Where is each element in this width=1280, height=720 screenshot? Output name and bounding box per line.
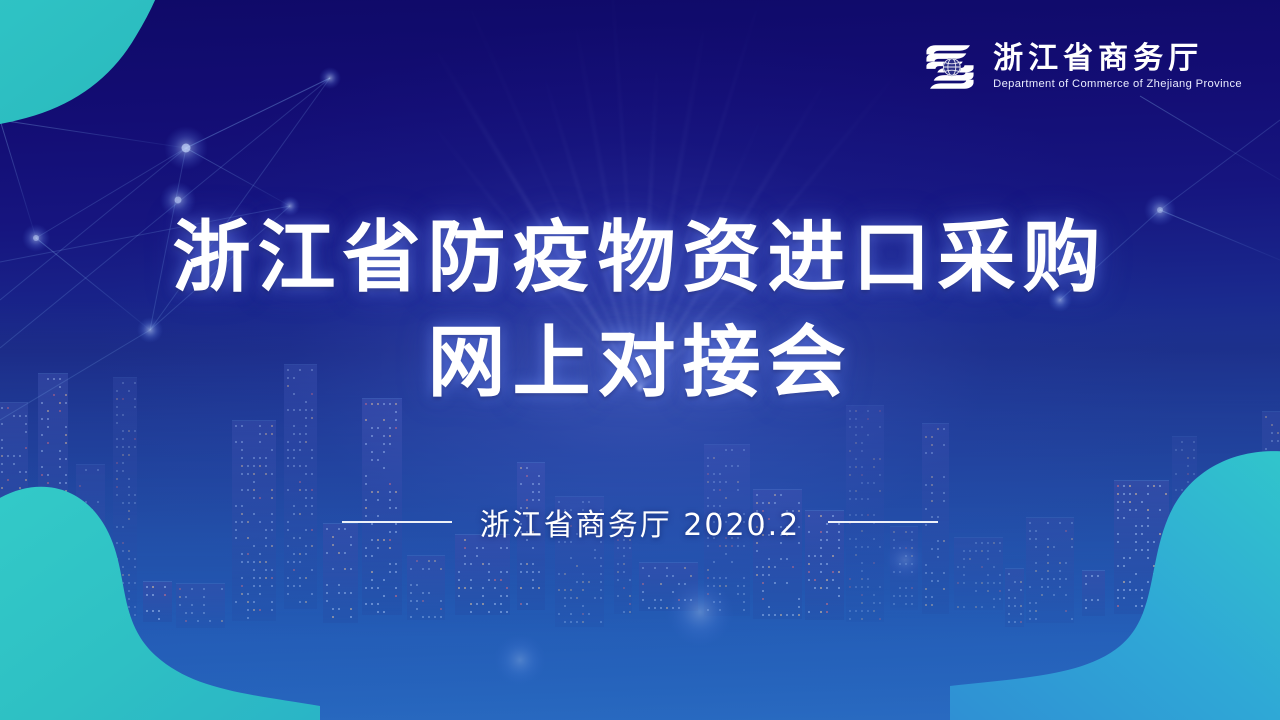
building-window (299, 561, 301, 563)
building-window (247, 617, 249, 619)
building-window (981, 566, 983, 568)
building-window (756, 550, 758, 552)
building-window (762, 566, 764, 568)
building-window (371, 459, 373, 461)
building-window (134, 446, 136, 448)
building-window (253, 609, 255, 611)
building-window (582, 605, 584, 607)
building-window (987, 550, 989, 552)
building-window (1117, 493, 1119, 495)
building-window (1193, 473, 1195, 475)
building-window (719, 593, 721, 595)
building-window (19, 495, 21, 497)
building-window (867, 418, 869, 420)
building-window (59, 450, 61, 452)
building-window (678, 583, 680, 585)
building-window (855, 410, 857, 412)
building-window (371, 579, 373, 581)
building-window (1222, 556, 1224, 558)
building-window (47, 474, 49, 476)
building-window (1014, 581, 1016, 583)
building-window (774, 566, 776, 568)
building-window (311, 545, 313, 547)
city-building (954, 537, 1003, 610)
building-window (1159, 557, 1161, 559)
building-window (1193, 617, 1195, 619)
building-window (1175, 473, 1177, 475)
building-window (287, 593, 289, 595)
building-window (600, 573, 602, 575)
building-window (855, 426, 857, 428)
building-window (293, 393, 295, 395)
building-window (849, 466, 851, 468)
building-window (1228, 572, 1230, 574)
building-window (59, 378, 61, 380)
building-window (271, 609, 273, 611)
building-window (538, 571, 540, 573)
building-window (134, 606, 136, 608)
building-window (867, 482, 869, 484)
building-window (538, 483, 540, 485)
building-window (91, 549, 93, 551)
building-window (905, 587, 907, 589)
building-window (1020, 613, 1022, 615)
building-window (458, 595, 460, 597)
building-window (1181, 617, 1183, 619)
building-window (79, 565, 81, 567)
building-window (47, 578, 49, 580)
building-window (1210, 556, 1212, 558)
building-window (311, 593, 313, 595)
building-window (1181, 441, 1183, 443)
building-window (247, 609, 249, 611)
building-window (1147, 549, 1149, 551)
building-window (849, 618, 851, 620)
building-window (969, 558, 971, 560)
building-window (526, 571, 528, 573)
building-window (737, 481, 739, 483)
building-window (350, 592, 352, 594)
building-window (1020, 589, 1022, 591)
building-window (743, 449, 745, 451)
building-window (265, 465, 267, 467)
building-window (146, 586, 148, 588)
building-window (1165, 549, 1167, 551)
building-window (91, 565, 93, 567)
building-window (1047, 586, 1049, 588)
building-window (1187, 569, 1189, 571)
building-window (259, 553, 261, 555)
building-window (957, 566, 959, 568)
building-window (253, 561, 255, 563)
building-window (707, 585, 709, 587)
building-window (293, 433, 295, 435)
building-window (434, 560, 436, 562)
building-window (1252, 612, 1254, 614)
building-window (305, 545, 307, 547)
building-window (179, 588, 181, 590)
building-window (128, 486, 130, 488)
building-window (299, 577, 301, 579)
building-window (482, 603, 484, 605)
building-window (1123, 493, 1125, 495)
building-window (265, 569, 267, 571)
building-window (128, 550, 130, 552)
building-window (59, 570, 61, 572)
building-window (259, 433, 261, 435)
building-window (570, 557, 572, 559)
building-window (128, 574, 130, 576)
building-window (1059, 570, 1061, 572)
building-window (1065, 562, 1067, 564)
building-window (820, 555, 822, 557)
building-window (253, 585, 255, 587)
building-window (128, 454, 130, 456)
building-window (1265, 456, 1267, 458)
building-window (395, 419, 397, 421)
building-window (1246, 548, 1248, 550)
building-window (1135, 573, 1137, 575)
building-window (1234, 556, 1236, 558)
building-window (629, 547, 631, 549)
building-window (713, 561, 715, 563)
building-window (241, 561, 243, 563)
building-window (943, 428, 945, 430)
building-window (383, 419, 385, 421)
building-window (707, 465, 709, 467)
building-window (1175, 449, 1177, 451)
building-window (13, 415, 15, 417)
building-window (185, 620, 187, 622)
building-window (371, 603, 373, 605)
building-window (725, 577, 727, 579)
building-window (299, 433, 301, 435)
building-window (1271, 576, 1273, 578)
building-window (1029, 602, 1031, 604)
building-window (97, 573, 99, 575)
building-window (867, 586, 869, 588)
building-window (861, 562, 863, 564)
building-window (1159, 605, 1161, 607)
building-window (582, 581, 584, 583)
building-window (271, 473, 273, 475)
building-window (719, 609, 721, 611)
building-window (1265, 472, 1267, 474)
building-window (203, 588, 205, 590)
building-window (311, 457, 313, 459)
building-window (707, 577, 709, 579)
building-window (999, 590, 1001, 592)
building-window (116, 438, 118, 440)
building-window (780, 614, 782, 616)
building-window (365, 443, 367, 445)
building-window (1159, 549, 1161, 551)
building-window (1129, 485, 1131, 487)
building-window (931, 436, 933, 438)
building-window (957, 582, 959, 584)
building-window (768, 566, 770, 568)
building-window (707, 593, 709, 595)
building-window (41, 466, 43, 468)
building-window (41, 450, 43, 452)
building-window (122, 462, 124, 464)
building-window (1228, 604, 1230, 606)
building-window (520, 587, 522, 589)
building-window (684, 599, 686, 601)
building-window (623, 555, 625, 557)
building-window (241, 473, 243, 475)
building-window (925, 484, 927, 486)
building-window (1085, 607, 1087, 609)
building-window (1228, 596, 1230, 598)
building-window (1277, 464, 1279, 466)
building-window (600, 565, 602, 567)
building-window (1246, 572, 1248, 574)
building-window (134, 382, 136, 384)
building-window (786, 558, 788, 560)
building-window (798, 614, 800, 616)
building-window (849, 586, 851, 588)
building-window (299, 465, 301, 467)
building-window (122, 574, 124, 576)
building-window (1147, 485, 1149, 487)
building-window (814, 555, 816, 557)
building-window (931, 580, 933, 582)
building-window (532, 483, 534, 485)
building-window (855, 434, 857, 436)
building-window (873, 602, 875, 604)
building-window (247, 601, 249, 603)
building-window (1153, 573, 1155, 575)
building-window (838, 595, 840, 597)
building-window (873, 466, 875, 468)
building-window (999, 550, 1001, 552)
building-window (365, 419, 367, 421)
building-window (259, 577, 261, 579)
building-window (41, 586, 43, 588)
building-window (122, 446, 124, 448)
building-window (293, 569, 295, 571)
building-window (861, 570, 863, 572)
building-window (47, 562, 49, 564)
building-window (410, 600, 412, 602)
building-window (428, 568, 430, 570)
building-window (1252, 572, 1254, 574)
building-window (629, 603, 631, 605)
building-window (365, 403, 367, 405)
building-window (311, 369, 313, 371)
building-window (855, 442, 857, 444)
building-window (1059, 562, 1061, 564)
building-window (617, 579, 619, 581)
building-window (849, 410, 851, 412)
building-window (957, 606, 959, 608)
logo-chinese-name: 浙江省商务厅 (993, 43, 1242, 75)
building-window (672, 607, 674, 609)
building-window (1165, 565, 1167, 567)
building-window (861, 610, 863, 612)
building-window (47, 418, 49, 420)
building-window (558, 573, 560, 575)
building-window (588, 613, 590, 615)
building-window (617, 547, 619, 549)
building-window (299, 489, 301, 491)
building-window (576, 581, 578, 583)
building-window (975, 550, 977, 552)
building-window (1193, 449, 1195, 451)
building-window (271, 585, 273, 587)
building-window (1065, 578, 1067, 580)
building-window (931, 572, 933, 574)
building-window (925, 588, 927, 590)
building-window (963, 566, 965, 568)
building-window (1041, 578, 1043, 580)
building-window (1271, 600, 1273, 602)
building-window (41, 402, 43, 404)
building-window (47, 570, 49, 572)
building-window (1265, 464, 1267, 466)
building-window (85, 469, 87, 471)
building-window (826, 563, 828, 565)
building-window (707, 497, 709, 499)
city-building (1082, 570, 1105, 616)
building-window (97, 589, 99, 591)
building-window (737, 545, 739, 547)
building-window (879, 618, 881, 620)
building-window (7, 583, 9, 585)
building-window (371, 403, 373, 405)
building-window (1240, 556, 1242, 558)
building-window (134, 558, 136, 560)
building-window (116, 462, 118, 464)
building-window (1135, 589, 1137, 591)
building-window (855, 610, 857, 612)
building-window (91, 581, 93, 583)
building-window (134, 614, 136, 616)
building-window (122, 550, 124, 552)
building-window (879, 546, 881, 548)
building-window (1277, 600, 1279, 602)
building-window (116, 558, 118, 560)
building-window (558, 613, 560, 615)
building-window (146, 594, 148, 596)
building-window (265, 561, 267, 563)
building-window (97, 613, 99, 615)
building-window (1085, 599, 1087, 601)
building-window (377, 459, 379, 461)
building-window (41, 578, 43, 580)
building-window (19, 471, 21, 473)
building-window (768, 614, 770, 616)
building-window (707, 609, 709, 611)
building-window (642, 567, 644, 569)
building-window (582, 621, 584, 623)
building-window (365, 475, 367, 477)
building-window (500, 571, 502, 573)
building-window (570, 621, 572, 623)
building-window (731, 545, 733, 547)
building-window (1246, 604, 1248, 606)
building-window (1123, 581, 1125, 583)
building-window (13, 455, 15, 457)
city-building (407, 555, 445, 620)
building-window (1181, 585, 1183, 587)
building-window (1216, 596, 1218, 598)
building-window (53, 378, 55, 380)
building-window (1117, 565, 1119, 567)
building-window (1047, 554, 1049, 556)
building-window (993, 606, 995, 608)
building-window (1228, 548, 1230, 550)
building-window (203, 612, 205, 614)
building-window (911, 563, 913, 565)
building-window (943, 588, 945, 590)
building-window (623, 563, 625, 565)
building-window (59, 586, 61, 588)
building-window (737, 465, 739, 467)
building-window (743, 609, 745, 611)
building-window (582, 589, 584, 591)
building-window (7, 407, 9, 409)
building-window (122, 398, 124, 400)
building-window (428, 560, 430, 562)
building-window (756, 494, 758, 496)
building-window (814, 579, 816, 581)
building-window (1129, 493, 1131, 495)
building-window (814, 587, 816, 589)
building-window (743, 545, 745, 547)
building-window (305, 441, 307, 443)
building-window (820, 611, 822, 613)
building-window (1014, 621, 1016, 623)
building-window (981, 606, 983, 608)
building-window (47, 554, 49, 556)
building-window (1175, 545, 1177, 547)
building-window (808, 563, 810, 565)
building-window (1085, 575, 1087, 577)
building-window (911, 571, 913, 573)
building-window (905, 555, 907, 557)
building-window (247, 561, 249, 563)
building-window (7, 495, 9, 497)
building-window (600, 597, 602, 599)
building-window (365, 547, 367, 549)
building-window (1193, 577, 1195, 579)
building-window (713, 473, 715, 475)
building-window (931, 492, 933, 494)
building-window (203, 596, 205, 598)
building-window (617, 571, 619, 573)
building-window (768, 606, 770, 608)
building-window (1008, 621, 1010, 623)
building-window (464, 555, 466, 557)
building-window (19, 487, 21, 489)
building-window (47, 378, 49, 380)
building-window (1175, 609, 1177, 611)
building-window (594, 549, 596, 551)
building-window (383, 435, 385, 437)
building-window (179, 604, 181, 606)
building-window (287, 545, 289, 547)
building-window (975, 606, 977, 608)
building-window (1, 607, 3, 609)
building-window (792, 566, 794, 568)
building-window (7, 551, 9, 553)
building-window (1271, 456, 1273, 458)
building-window (1008, 573, 1010, 575)
building-window (1123, 485, 1125, 487)
building-window (7, 591, 9, 593)
